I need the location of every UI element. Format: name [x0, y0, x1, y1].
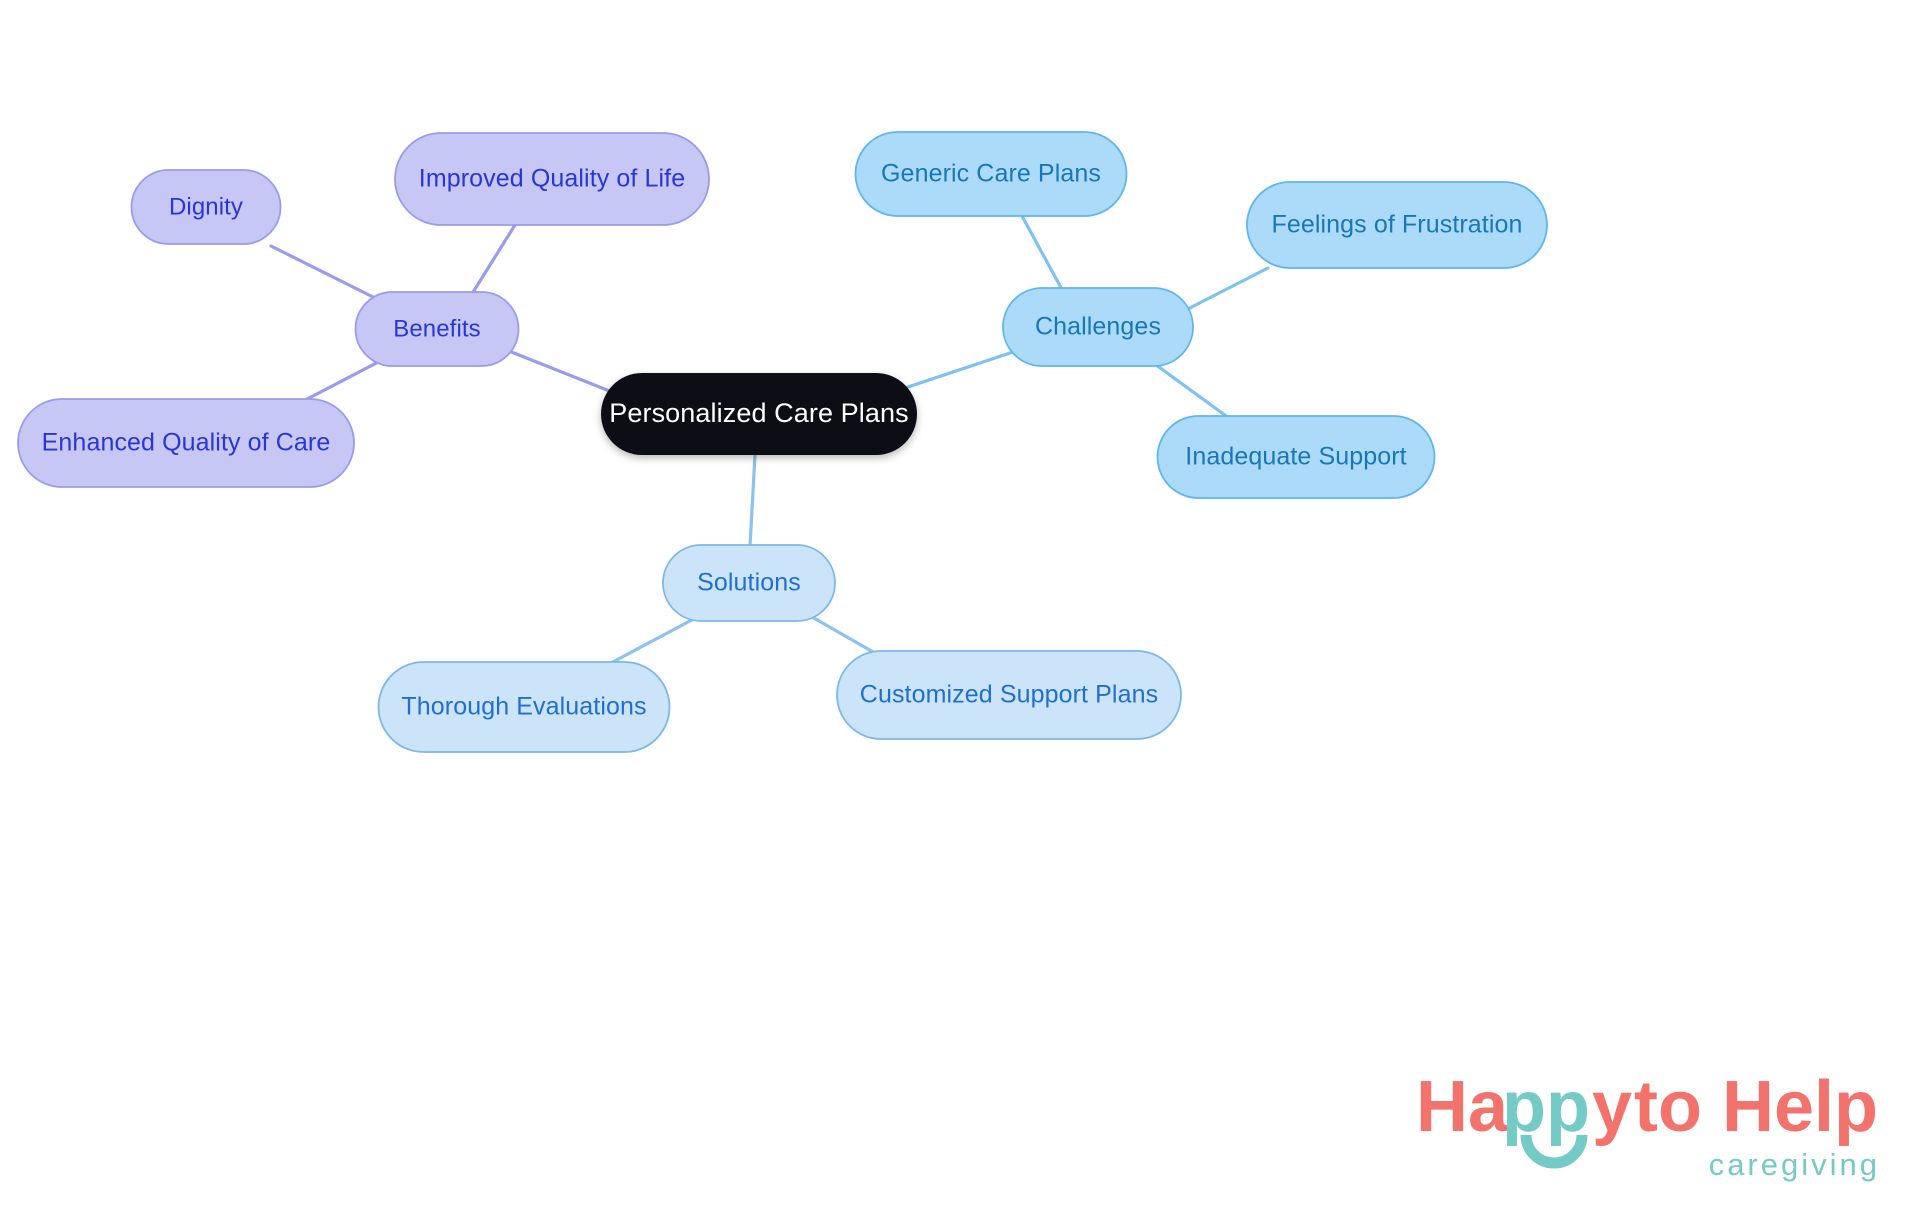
- logo-text-y: y: [1592, 1067, 1632, 1147]
- node-improved-quality-of-life[interactable]: Improved Quality of Life: [395, 133, 709, 225]
- node-generic-care-plans[interactable]: Generic Care Plans: [856, 132, 1127, 216]
- mindmap-diagram: DignityImproved Quality of LifeEnhanced …: [0, 0, 1920, 1215]
- node-label-improved-quality-of-life: Improved Quality of Life: [419, 165, 685, 193]
- node-feelings-of-frustration[interactable]: Feelings of Frustration: [1247, 182, 1547, 268]
- node-label-challenges: Challenges: [1035, 313, 1161, 341]
- node-thorough-evaluations[interactable]: Thorough Evaluations: [379, 662, 670, 752]
- node-inadequate-support[interactable]: Inadequate Support: [1158, 416, 1435, 498]
- node-label-solutions: Solutions: [697, 569, 801, 597]
- node-root[interactable]: Personalized Care Plans: [601, 373, 917, 455]
- node-enhanced-quality-of-care[interactable]: Enhanced Quality of Care: [18, 399, 354, 487]
- node-label-thorough-evaluations: Thorough Evaluations: [401, 693, 646, 721]
- node-label-customized-support-plans: Customized Support Plans: [860, 681, 1158, 709]
- node-label-inadequate-support: Inadequate Support: [1185, 443, 1406, 471]
- node-label-dignity: Dignity: [169, 193, 243, 220]
- logo-text-to-help: to Help: [1634, 1067, 1878, 1147]
- node-label-feelings-of-frustration: Feelings of Frustration: [1271, 211, 1522, 239]
- node-challenges[interactable]: Challenges: [1003, 288, 1193, 366]
- node-label-root: Personalized Care Plans: [609, 398, 908, 428]
- node-label-benefits: Benefits: [393, 315, 481, 342]
- node-customized-support-plans[interactable]: Customized Support Plans: [837, 651, 1181, 739]
- node-solutions[interactable]: Solutions: [663, 545, 835, 621]
- node-label-generic-care-plans: Generic Care Plans: [881, 160, 1101, 188]
- brand-logo: Ha pp y to Help caregiving: [1414, 1063, 1884, 1193]
- logo-tagline: caregiving: [1709, 1147, 1880, 1182]
- logo-text-ha: Ha: [1416, 1067, 1509, 1147]
- node-dignity[interactable]: Dignity: [132, 170, 281, 244]
- node-label-enhanced-quality-of-care: Enhanced Quality of Care: [42, 429, 331, 457]
- node-benefits[interactable]: Benefits: [356, 292, 519, 366]
